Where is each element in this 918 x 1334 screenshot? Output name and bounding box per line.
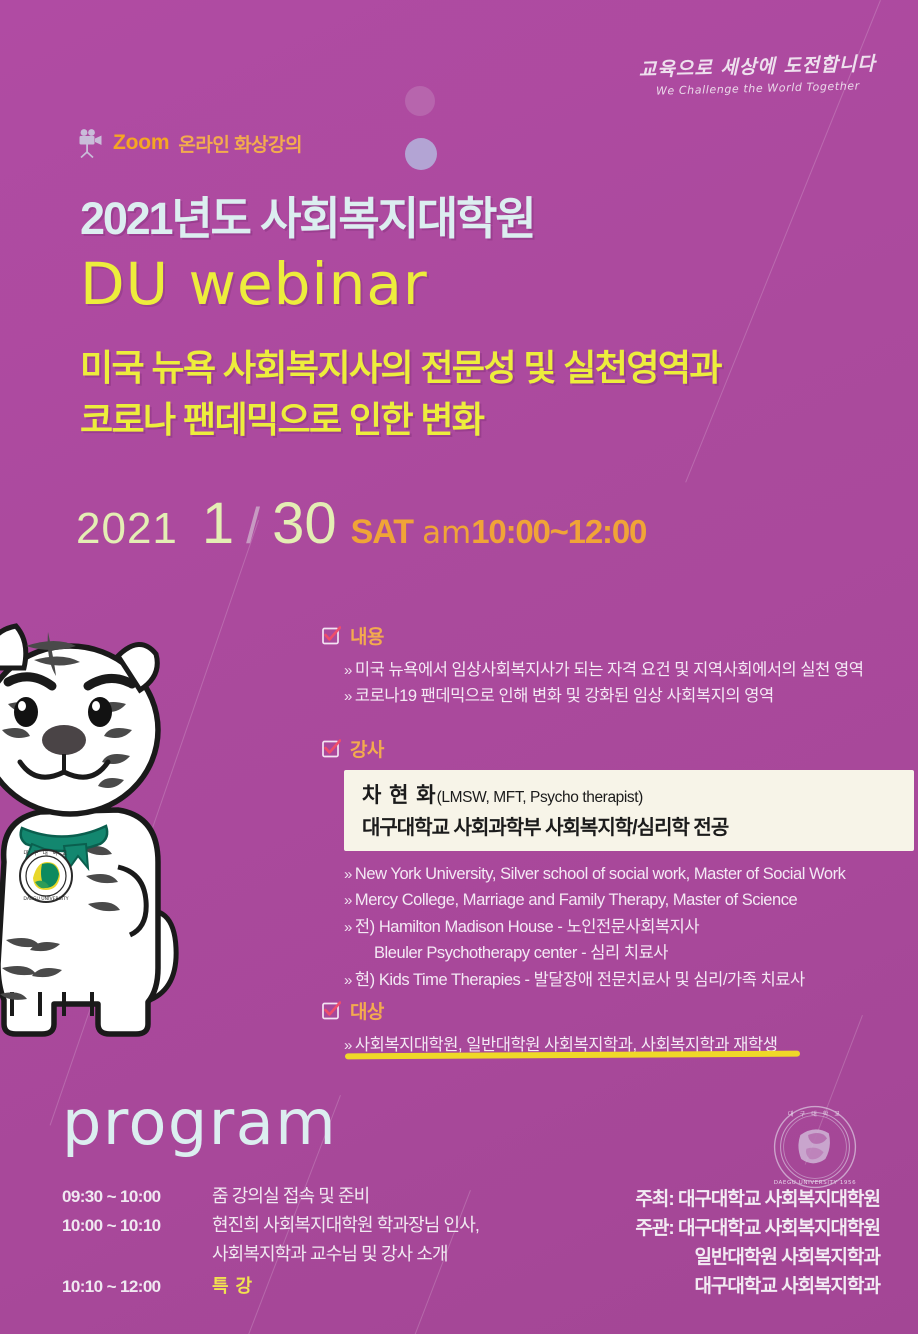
bullet-item-continuation: Bleuler Psychotherapy center - 심리 치료사 [344,940,914,966]
date-day: 30 [272,490,337,557]
bullet-text: Bleuler Psychotherapy center - 심리 치료사 [374,944,668,962]
section-content-bullets: »미국 뉴욕에서 임상사회복지사가 되는 자격 요건 및 지역사회에서의 실천 … [322,657,863,710]
bullet-marker: » [344,1037,352,1054]
movie-camera-icon [78,128,104,158]
program-row-continuation: 사회복지학과 교수님 및 강사 소개 [62,1240,479,1266]
section-content-title: 내용 [350,622,384,649]
university-slogan: 교육으로 세상에 도전합니다 We Challenge the World To… [638,49,876,98]
checkbox-checked-icon [322,626,341,645]
program-description-continued: 사회복지학과 교수님 및 강사 소개 [212,1240,448,1266]
event-date-row: 2021 1 / 30 SAT am 10:00~12:00 [76,490,646,557]
headline-subtitle: 미국 뉴욕 사회복지사의 전문성 및 실천영역과 코로나 팬데믹으로 인한 변화 [80,342,721,446]
program-time: 10:10 ~ 12:00 [62,1277,212,1297]
section-content: 내용 »미국 뉴욕에서 임상사회복지사가 되는 자격 요건 및 지역사회에서의 … [322,622,863,710]
decorative-dot-upper [405,86,435,116]
checkbox-checked-icon [322,739,341,758]
organizer-line: 대구대학교 사회복지학과 [635,1273,880,1302]
speaker-name-row: 차 현 화(LMSW, MFT, Psycho therapist) [362,779,898,809]
organizer-line: 주관: 대구대학교 사회복지대학원 [635,1215,880,1244]
zoom-brand-label: Zoom [113,131,169,155]
bullet-text: 코로나19 팬데믹으로 인해 변화 및 강화된 임상 사회복지의 영역 [355,687,774,705]
checkbox-checked-icon [322,1001,341,1020]
daegu-university-seal: 대 구 대 학 교 DAEGU UNIVERSITY 1956 [772,1104,858,1195]
program-row: 10:10 ~ 12:00 특 강 [62,1272,479,1298]
bullet-text: 전) Hamilton Madison House - 노인전문사회복지사 [355,918,699,936]
svg-text:DAEGU UNIVERSITY 1956: DAEGU UNIVERSITY 1956 [774,1180,856,1186]
program-schedule-list: 09:30 ~ 10:00 줌 강의실 접속 및 준비 10:00 ~ 10:1… [62,1182,479,1301]
program-description: 특 강 [212,1272,253,1298]
program-time: 09:30 ~ 10:00 [62,1187,212,1207]
bullet-text: 미국 뉴욕에서 임상사회복지사가 되는 자격 요건 및 지역사회에서의 실천 영… [355,661,864,679]
decorative-dot-lower [405,138,437,170]
bullet-marker: » [344,919,352,936]
bullet-marker: » [344,866,352,883]
bullet-marker: » [344,972,352,989]
zoom-banner: Zoom 온라인 화상강의 [78,128,302,158]
program-time: 10:00 ~ 10:10 [62,1216,212,1236]
section-audience: 대상 »사회복지대학원, 일반대학원 사회복지학과, 사회복지학과 재학생 [322,997,777,1058]
zoom-subtitle-label: 온라인 화상강의 [178,130,302,157]
slogan-korean: 교육으로 세상에 도전합니다 [638,49,876,82]
svg-text:대 구 대 학 교: 대 구 대 학 교 [24,849,69,857]
speaker-name: 차 현 화 [362,784,437,807]
speaker-credentials: (LMSW, MFT, Psycho therapist) [437,789,643,806]
bullet-text: 현) Kids Time Therapies - 발달장애 전문치료사 및 심리… [355,971,805,989]
section-content-header: 내용 [322,622,863,649]
bullet-item: »미국 뉴욕에서 임상사회복지사가 되는 자격 요건 및 지역사회에서의 실천 … [344,657,863,683]
poster-canvas: 교육으로 세상에 도전합니다 We Challenge the World To… [0,0,918,1334]
section-instructor-bullets: »New York University, Silver school of s… [322,861,914,993]
bullet-text: Mercy College, Marriage and Family Thera… [355,891,797,909]
section-audience-title: 대상 [350,997,384,1024]
white-tiger-mascot: 대 구 대 학 교 DAEGU UNIVERSITY [0,612,201,1072]
slogan-english: We Challenge the World Together [639,79,876,98]
date-year: 2021 [76,504,178,554]
program-description: 줌 강의실 접속 및 준비 [212,1182,369,1208]
date-am-pm: am [422,515,471,551]
program-description: 현진희 사회복지대학원 학과장님 인사, [212,1211,479,1237]
speaker-card: 차 현 화(LMSW, MFT, Psycho therapist) 대구대학교… [344,770,914,851]
bullet-marker: » [344,662,352,679]
headline-subtitle-line2: 코로나 팬데믹으로 인한 변화 [80,394,721,446]
bullet-marker: » [344,892,352,909]
headline-year-line: 2021년도 사회복지대학원 [80,182,534,247]
headline-subtitle-line1: 미국 뉴욕 사회복지사의 전문성 및 실천영역과 [80,342,721,394]
date-month: 1 [202,490,234,557]
section-audience-header: 대상 [322,997,777,1024]
program-row: 09:30 ~ 10:00 줌 강의실 접속 및 준비 [62,1182,479,1208]
program-heading: program [62,1086,337,1159]
bullet-item: »현) Kids Time Therapies - 발달장애 전문치료사 및 심… [344,967,914,993]
bullet-item: »Mercy College, Marriage and Family Ther… [344,887,914,913]
bullet-text: New York University, Silver school of so… [355,865,846,883]
organizer-line: 일반대학원 사회복지학과 [635,1244,880,1273]
date-day-of-week: SAT [351,513,413,552]
date-separator: / [246,497,260,555]
section-instructor-header: 강사 [322,735,914,762]
bullet-item: »코로나19 팬데믹으로 인해 변화 및 강화된 임상 사회복지의 영역 [344,683,863,709]
organizer-block: 주최: 대구대학교 사회복지대학원 주관: 대구대학교 사회복지대학원 일반대학… [635,1186,880,1302]
bullet-marker: » [344,688,352,705]
speaker-affiliation: 대구대학교 사회과학부 사회복지학/심리학 전공 [362,811,898,840]
bullet-item: »전) Hamilton Madison House - 노인전문사회복지사 [344,914,914,940]
date-time-range: 10:00~12:00 [471,513,646,551]
bullet-item: »New York University, Silver school of s… [344,861,914,887]
headline-brand: DU webinar [80,250,428,318]
svg-text:대 구 대 학 교: 대 구 대 학 교 [788,1110,842,1118]
section-instructor-title: 강사 [350,735,384,762]
svg-text:DAEGU UNIVERSITY: DAEGU UNIVERSITY [23,896,68,902]
program-row: 10:00 ~ 10:10 현진희 사회복지대학원 학과장님 인사, [62,1211,479,1237]
section-instructor: 강사 차 현 화(LMSW, MFT, Psycho therapist) 대구… [322,735,914,993]
